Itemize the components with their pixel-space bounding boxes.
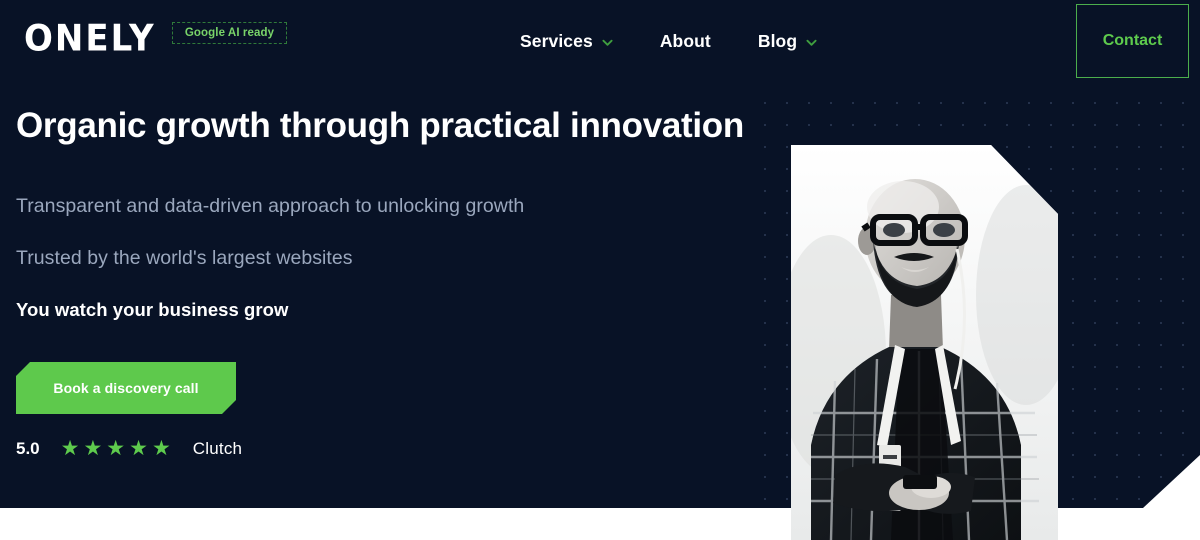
main-navigation: Services About Blog — [520, 26, 817, 56]
hero-subline-2: Trusted by the world's largest websites — [16, 245, 353, 271]
hero-headline: Organic growth through practical innovat… — [16, 105, 744, 147]
rating-source-label: Clutch — [193, 439, 242, 459]
portrait-illustration — [791, 145, 1058, 540]
contact-button-label: Contact — [1103, 32, 1163, 50]
star-icon: ★ — [83, 438, 102, 459]
site-header: ONELY Google AI ready Services About Blo… — [0, 0, 1200, 81]
nav-item-about[interactable]: About — [660, 31, 711, 52]
star-icon: ★ — [152, 438, 171, 459]
nav-item-blog[interactable]: Blog — [758, 31, 817, 52]
nav-item-services-label: Services — [520, 31, 593, 52]
contact-button[interactable]: Contact — [1076, 4, 1189, 78]
hero-subline-1: Transparent and data-driven approach to … — [16, 193, 524, 219]
hero-portrait-photo — [791, 145, 1058, 540]
nav-item-about-label: About — [660, 31, 711, 52]
nav-item-services[interactable]: Services — [520, 31, 613, 52]
rating-score: 5.0 — [16, 439, 40, 459]
google-ai-ready-badge-label: Google AI ready — [185, 27, 274, 39]
star-icon: ★ — [129, 438, 148, 459]
star-icon: ★ — [61, 438, 80, 459]
google-ai-ready-badge: Google AI ready — [172, 22, 287, 44]
rating-stars: ★ ★ ★ ★ ★ — [61, 438, 171, 459]
logo-wordmark: ONELY — [24, 21, 156, 57]
book-discovery-call-button[interactable]: Book a discovery call — [16, 362, 236, 414]
star-icon: ★ — [106, 438, 125, 459]
hero-subline-3: You watch your business grow — [16, 297, 288, 323]
book-discovery-call-button-label: Book a discovery call — [53, 380, 198, 396]
chevron-down-icon — [602, 37, 613, 48]
nav-item-blog-label: Blog — [758, 31, 797, 52]
chevron-down-icon — [806, 37, 817, 48]
logo[interactable]: ONELY — [24, 20, 156, 58]
clutch-rating: 5.0 ★ ★ ★ ★ ★ Clutch — [16, 438, 242, 459]
